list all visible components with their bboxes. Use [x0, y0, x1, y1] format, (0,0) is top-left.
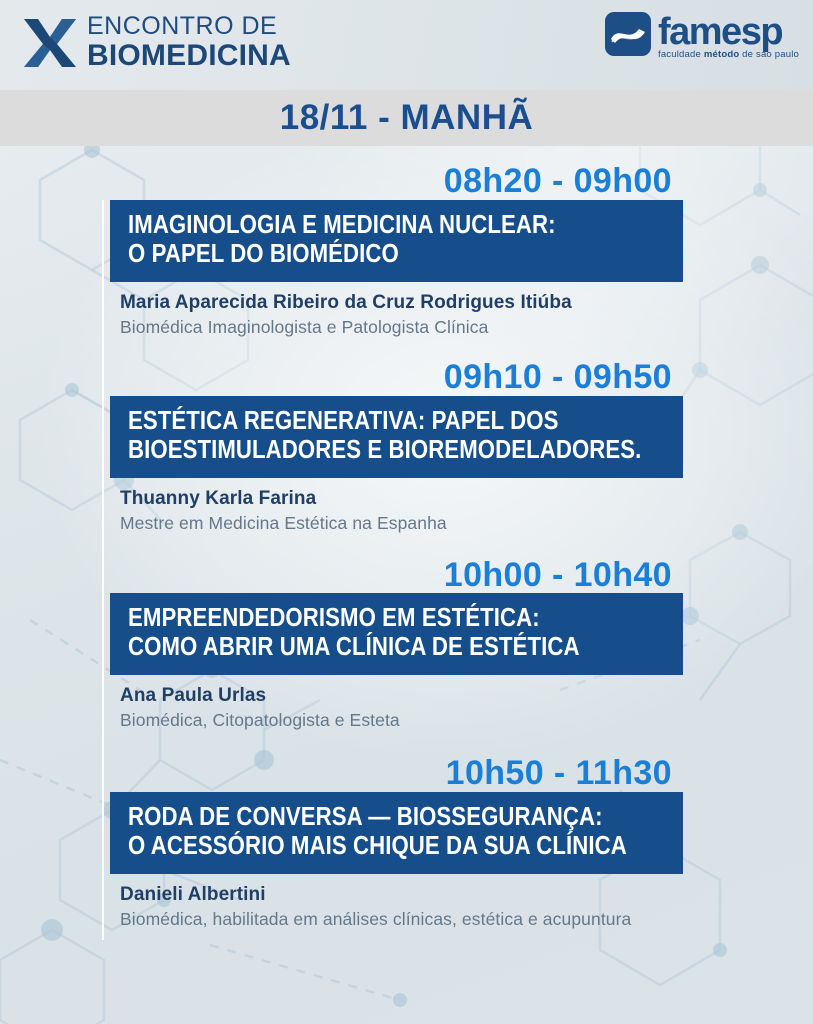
session-title-line-1: ESTÉTICA REGENERATIVA: PAPEL DOS	[128, 407, 599, 436]
session-title-line-1: EMPREENDEDORISMO EM ESTÉTICA:	[128, 604, 599, 633]
famesp-emblem-icon	[605, 12, 651, 56]
speaker-role: Biomédica, Citopatologista e Esteta	[120, 709, 773, 732]
session-time: 10h00 - 10h40	[0, 558, 813, 594]
session-title-bar: ESTÉTICA REGENERATIVA: PAPEL DOS BIOESTI…	[110, 396, 683, 478]
session-item: 10h00 - 10h40 EMPREENDEDORISMO EM ESTÉTI…	[0, 558, 813, 732]
session-time: 10h50 - 11h30	[0, 756, 813, 792]
session-title-line-2: O PAPEL DO BIOMÉDICO	[128, 240, 599, 269]
speaker-name: Ana Paula Urlas	[120, 684, 773, 708]
session-time: 08h20 - 09h00	[0, 164, 813, 200]
famesp-tagline: faculdade método de sao paulo	[658, 50, 799, 60]
event-logo: ENCONTRO DE BIOMEDICINA	[22, 14, 291, 71]
session-speaker: Danieli Albertini Biomédica, habilitada …	[120, 874, 773, 931]
event-schedule-poster: ENCONTRO DE BIOMEDICINA famesp faculdade…	[0, 0, 813, 1024]
session-item: 08h20 - 09h00 IMAGINOLOGIA E MEDICINA NU…	[0, 164, 813, 338]
schedule-content: 08h20 - 09h00 IMAGINOLOGIA E MEDICINA NU…	[0, 146, 813, 1024]
session-title-line-1: RODA DE CONVERSA — BIOSSEGURANÇA:	[128, 803, 599, 832]
famesp-tagline-bold: método	[704, 49, 740, 60]
roman-numeral-x-icon	[22, 17, 78, 69]
session-title-line-2: COMO ABRIR UMA CLÍNICA DE ESTÉTICA	[128, 633, 599, 662]
date-banner-label: 18/11 - MANHÃ	[280, 98, 534, 138]
session-title-bar: RODA DE CONVERSA — BIOSSEGURANÇA: O ACES…	[110, 792, 683, 874]
speaker-name: Danieli Albertini	[120, 883, 773, 907]
session-time: 09h10 - 09h50	[0, 360, 813, 396]
event-logo-text: ENCONTRO DE BIOMEDICINA	[87, 14, 291, 71]
famesp-logo: famesp faculdade método de sao paulo	[605, 12, 799, 60]
date-banner: 18/11 - MANHÃ	[0, 90, 813, 146]
famesp-wordmark: famesp	[658, 13, 799, 51]
session-list: 08h20 - 09h00 IMAGINOLOGIA E MEDICINA NU…	[0, 146, 813, 930]
speaker-role: Biomédica Imaginologista e Patologista C…	[120, 316, 773, 339]
session-title-line-2: BIOESTIMULADORES E BIOREMODELADORES.	[128, 436, 599, 465]
event-logo-line2: BIOMEDICINA	[87, 41, 291, 71]
session-item: 09h10 - 09h50 ESTÉTICA REGENERATIVA: PAP…	[0, 360, 813, 534]
famesp-logo-text: famesp faculdade método de sao paulo	[658, 12, 799, 60]
session-speaker: Maria Aparecida Ribeiro da Cruz Rodrigue…	[120, 282, 773, 339]
famesp-tagline-suffix: de sao paulo	[739, 49, 799, 60]
speaker-role: Biomédica, habilitada em análises clínic…	[120, 908, 773, 931]
famesp-tagline-prefix: faculdade	[658, 49, 704, 60]
poster-header: ENCONTRO DE BIOMEDICINA famesp faculdade…	[0, 0, 813, 90]
event-logo-line1: ENCONTRO DE	[87, 14, 291, 39]
session-title-bar: EMPREENDEDORISMO EM ESTÉTICA: COMO ABRIR…	[110, 593, 683, 675]
session-speaker: Ana Paula Urlas Biomédica, Citopatologis…	[120, 675, 773, 732]
session-title-bar: IMAGINOLOGIA E MEDICINA NUCLEAR: O PAPEL…	[110, 200, 683, 282]
session-speaker: Thuanny Karla Farina Mestre em Medicina …	[120, 478, 773, 535]
session-title-line-1: IMAGINOLOGIA E MEDICINA NUCLEAR:	[128, 211, 599, 240]
session-title-line-2: O ACESSÓRIO MAIS CHIQUE DA SUA CLÍNICA	[128, 832, 599, 861]
session-item: 10h50 - 11h30 RODA DE CONVERSA — BIOSSEG…	[0, 756, 813, 930]
speaker-name: Maria Aparecida Ribeiro da Cruz Rodrigue…	[120, 291, 773, 315]
speaker-name: Thuanny Karla Farina	[120, 487, 773, 511]
speaker-role: Mestre em Medicina Estética na Espanha	[120, 512, 773, 535]
